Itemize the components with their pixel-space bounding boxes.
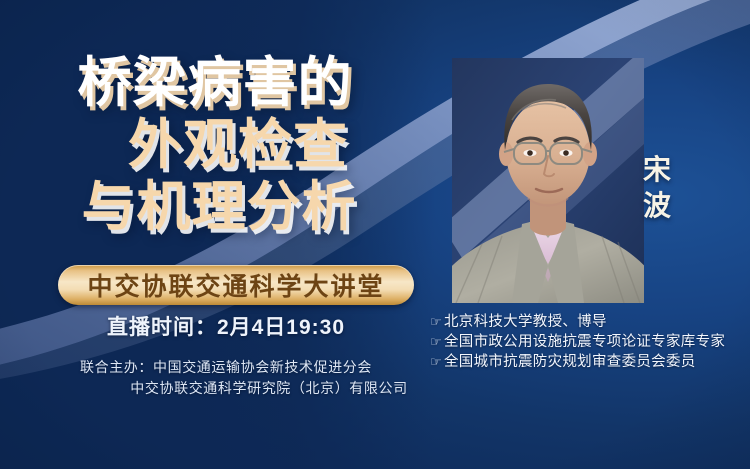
credential-text: 北京科技大学教授、博导	[444, 312, 607, 332]
webinar-poster: 桥梁病害的 外观检查 与机理分析 中交协联交通科学大讲堂 直播时间：2月4日19…	[0, 0, 750, 469]
organizer-line-2: 中交协联交通科学研究院（北京）有限公司	[0, 378, 452, 399]
poster-title: 桥梁病害的 外观检查 与机理分析	[0, 56, 430, 234]
broadcast-time: 直播时间：2月4日19:30	[0, 311, 452, 341]
organizers-block: 联合主办：中国交通运输协会新技术促进分会 中交协联交通科学研究院（北京）有限公司	[0, 357, 452, 399]
speaker-name: 宋 波	[635, 152, 679, 224]
title-line-2: 外观检查	[0, 118, 430, 172]
speaker-name-char-1: 宋	[635, 152, 679, 188]
organizer-line-1: 联合主办：中国交通运输协会新技术促进分会	[0, 357, 452, 378]
speaker-credentials: ☞ 北京科技大学教授、博导 ☞ 全国市政公用设施抗震专项论证专家库专家 ☞ 全国…	[430, 312, 748, 372]
title-line-3: 与机理分析	[0, 180, 430, 234]
series-banner: 中交协联交通科学大讲堂	[58, 265, 414, 305]
speaker-portrait-photo	[452, 58, 644, 303]
speaker-name-char-2: 波	[635, 188, 679, 224]
credential-row: ☞ 北京科技大学教授、博导	[430, 312, 748, 332]
credential-row: ☞ 全国市政公用设施抗震专项论证专家库专家	[430, 332, 748, 352]
pointing-hand-icon: ☞	[430, 332, 442, 352]
title-line-1: 桥梁病害的	[0, 56, 430, 110]
credential-text: 全国市政公用设施抗震专项论证专家库专家	[444, 332, 725, 352]
pointing-hand-icon: ☞	[430, 352, 442, 372]
pointing-hand-icon: ☞	[430, 312, 442, 332]
series-banner-label: 中交协联交通科学大讲堂	[87, 267, 384, 303]
credential-row: ☞ 全国城市抗震防灾规划审查委员会委员	[430, 352, 748, 372]
credential-text: 全国城市抗震防灾规划审查委员会委员	[444, 352, 696, 372]
